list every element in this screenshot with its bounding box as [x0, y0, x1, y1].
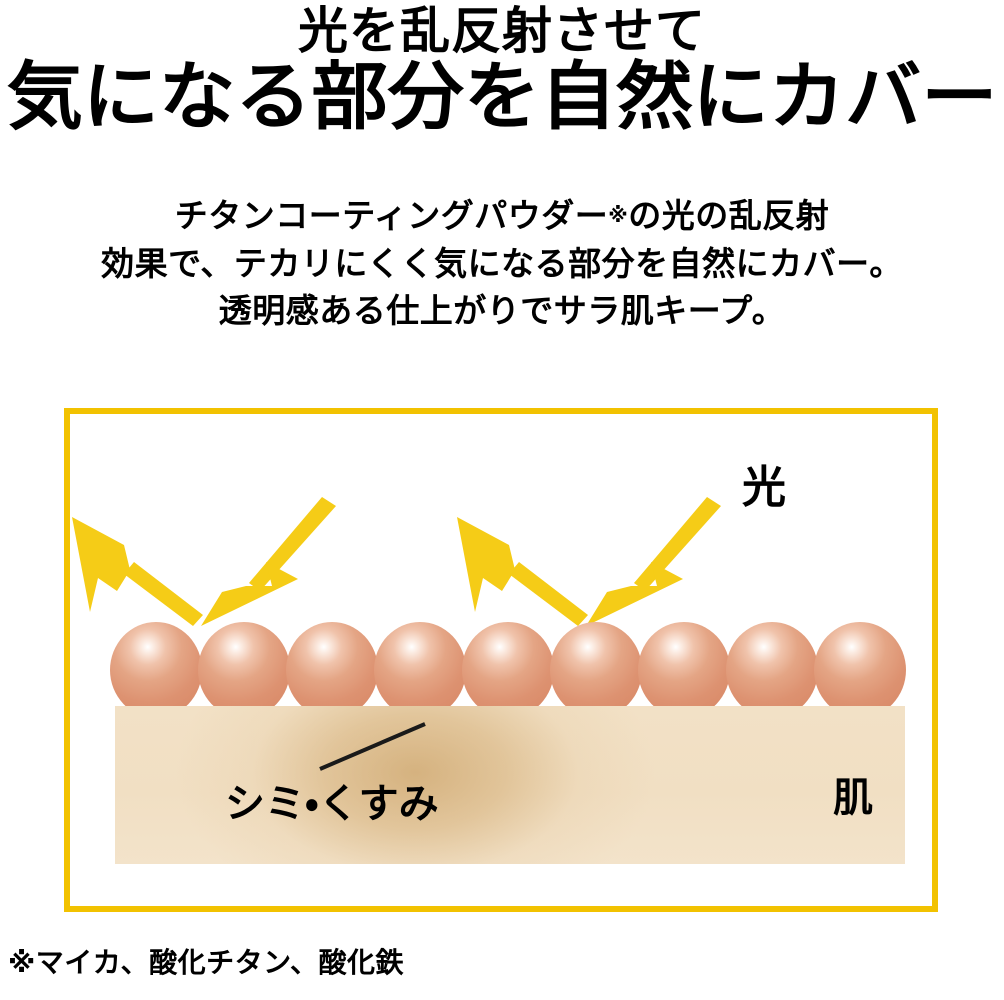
powder-particle: [374, 622, 466, 718]
body-copy-line-2: 効果で、テカリにくく気になる部分を自然にカバー。: [0, 240, 1004, 287]
outgoing-ray-arrow-left: [124, 562, 203, 626]
powder-particle: [638, 622, 730, 718]
powder-particle: [550, 622, 642, 718]
footnote-reference-mark: ※: [608, 205, 628, 227]
headline-line-1: 光を乱反射させて: [0, 2, 1004, 60]
body-copy-line-1-text-b: の光の乱反射: [628, 197, 829, 234]
body-copy-line-1-text-a: チタンコーティングパウダー: [175, 197, 609, 234]
headline-block: 光を乱反射させて 気になる部分を自然にカバー: [0, 0, 1004, 138]
skin-label: 肌: [833, 778, 873, 818]
body-copy-block: チタンコーティングパウダー※の光の乱反射 効果で、テカリにくく気になる部分を自然…: [0, 192, 1004, 334]
skin-layer: シミ・くすみ 肌: [115, 706, 905, 864]
diagram-frame: 光: [64, 408, 938, 912]
body-copy-line-3: 透明感ある仕上がりでサラ肌キープ。: [0, 287, 1004, 334]
body-copy-line-1: チタンコーティングパウダー※の光の乱反射: [0, 192, 1004, 240]
arrow-group-left: [72, 497, 336, 626]
powder-particle: [110, 622, 202, 718]
diagram-canvas: 光: [70, 414, 944, 918]
powder-particle: [198, 622, 290, 718]
powder-particle: [286, 622, 378, 718]
arrow-group-right: [457, 497, 721, 626]
blemish-label: シミ・くすみ: [225, 784, 439, 824]
footnote: ※マイカ、酸化チタン、酸化鉄: [8, 946, 404, 980]
powder-particle: [726, 622, 818, 718]
powder-particle: [462, 622, 554, 718]
outgoing-ray-arrowhead-left: [72, 517, 130, 612]
headline-line-2: 気になる部分を自然にカバー: [0, 56, 1004, 138]
outgoing-ray-arrowhead-right: [457, 517, 515, 612]
incoming-ray-arrowhead-left: [201, 562, 298, 626]
powder-particle: [814, 622, 906, 718]
outgoing-ray-arrow-right: [509, 562, 588, 626]
incoming-ray-arrowhead-right: [586, 562, 683, 626]
leader-line: [320, 724, 425, 769]
